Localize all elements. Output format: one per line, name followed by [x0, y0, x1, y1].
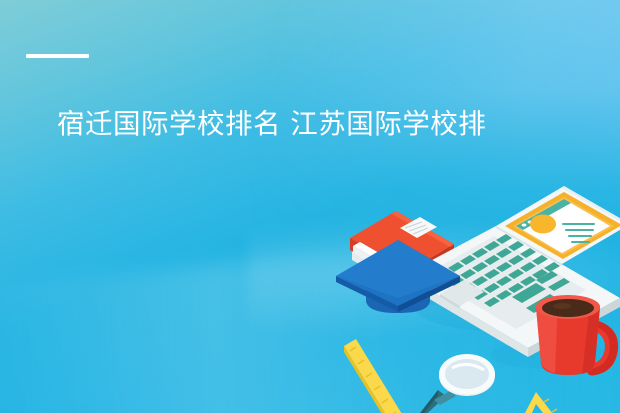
ruler-straight [344, 339, 424, 413]
ruler-triangle [494, 392, 590, 413]
title-accent-rule [26, 54, 89, 58]
magnifying-glass [410, 354, 495, 413]
page-title: 宿迁国际学校排名 江苏国际学校排 [57, 104, 602, 144]
browser-avatar [530, 215, 556, 234]
hero-banner: 宿迁国际学校排名 江苏国际学校排 [0, 0, 620, 413]
education-desk-illustration [300, 180, 620, 413]
